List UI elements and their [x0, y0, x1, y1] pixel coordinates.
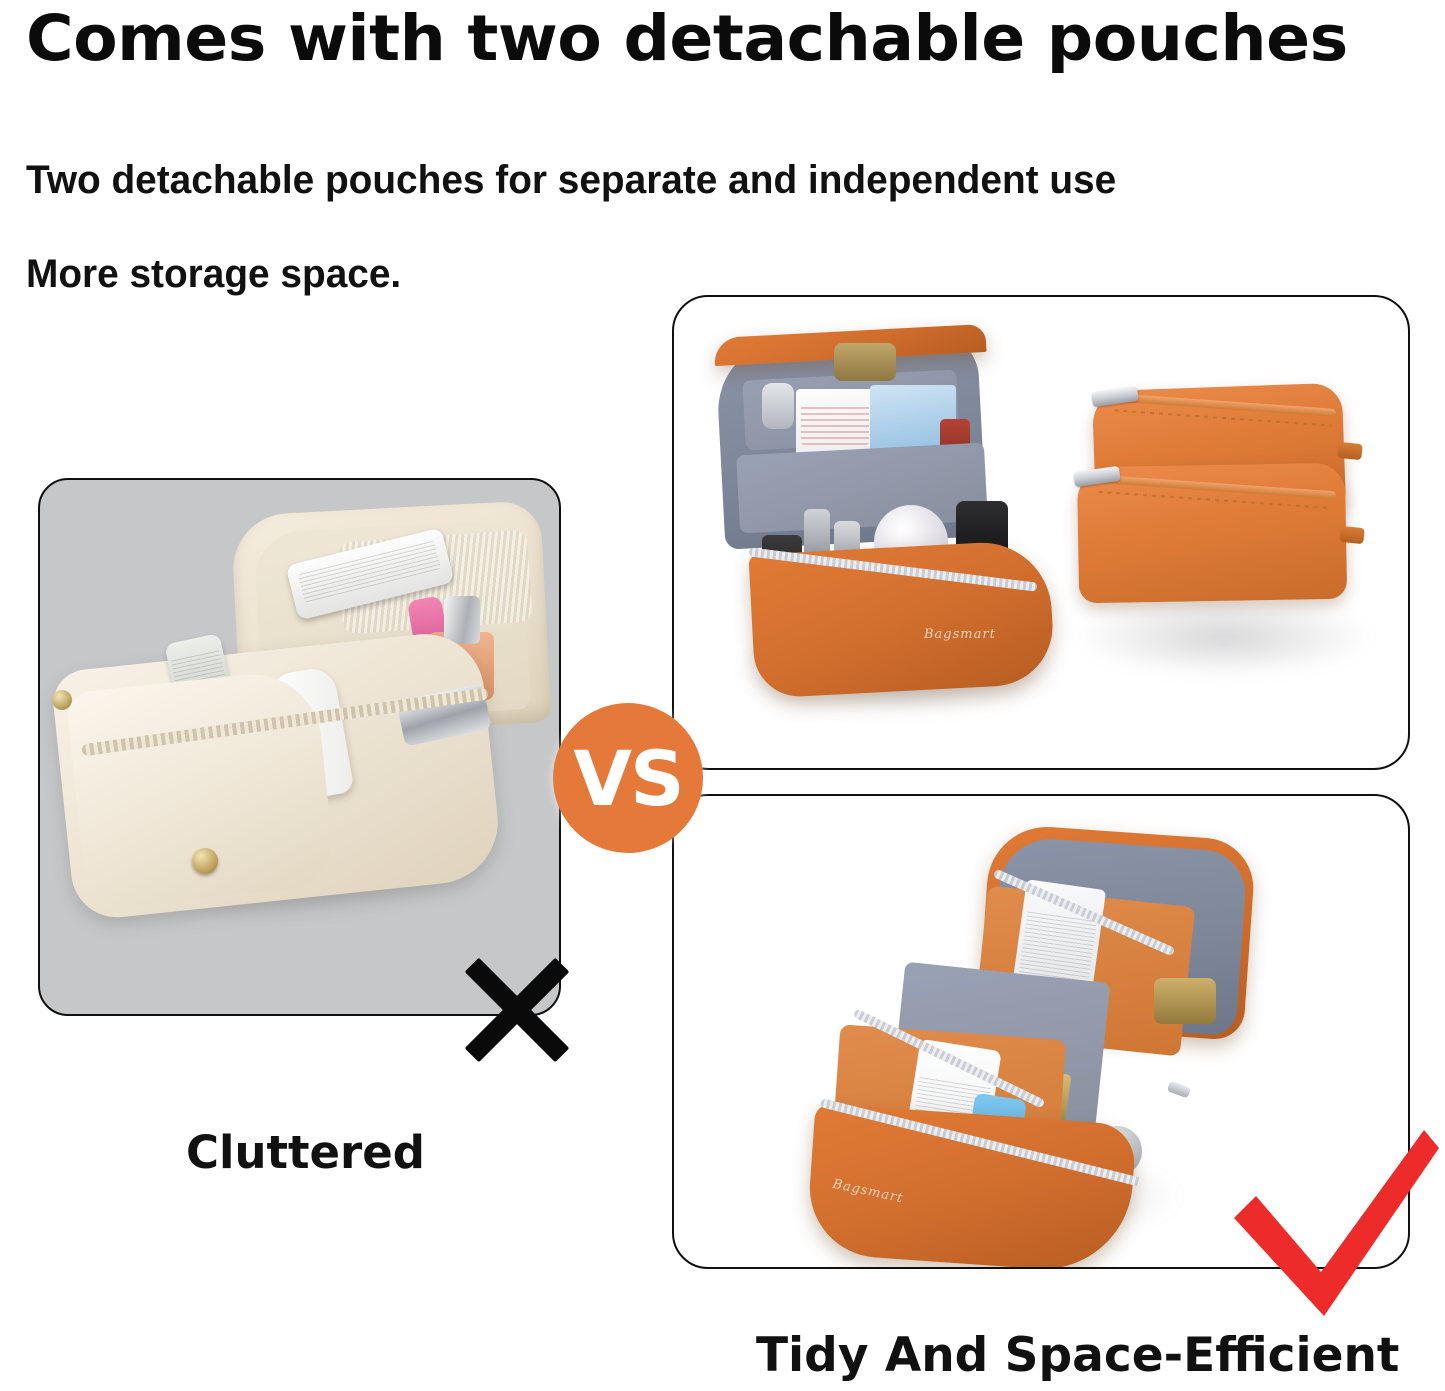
- brand-embossing: Bagsmart: [924, 627, 996, 642]
- caption-cluttered: Cluttered: [186, 1126, 425, 1179]
- pouch-bottom-tab: [1339, 526, 1365, 544]
- side-ring: [52, 690, 72, 710]
- versus-label: VS: [573, 734, 683, 823]
- page-title: Comes with two detachable pouches: [26, 2, 1445, 75]
- infographic-root: Comes with two detachable pouches Two de…: [0, 0, 1445, 1391]
- cream-bag-flap: [65, 668, 336, 911]
- subtitle-line-2: More storage space.: [26, 252, 401, 297]
- x-mark-icon: [452, 945, 582, 1075]
- upper-zipper-pull: [1167, 1081, 1191, 1099]
- subtitle-line-1: Two detachable pouches for separate and …: [26, 158, 1116, 203]
- gold-jar: [1154, 978, 1216, 1024]
- middle-divider-pocket: [736, 443, 988, 534]
- snap-button: [192, 848, 218, 874]
- cream-bag-photo: [40, 480, 559, 1014]
- bag-front-panel: [748, 539, 1055, 699]
- silver-cap: [444, 596, 480, 644]
- cluttered-photo-card: [38, 478, 561, 1016]
- pouch-top-tab: [1337, 442, 1363, 460]
- versus-badge: VS: [553, 703, 703, 853]
- pouch-shadow: [1074, 597, 1374, 677]
- small-bottle: [762, 383, 794, 429]
- check-mark-icon: [1228, 1126, 1442, 1322]
- caption-tidy: Tidy And Space-Efficient: [756, 1328, 1399, 1383]
- pouches-photo-card: Bagsmart: [672, 295, 1410, 770]
- orange-bag-with-pouches-photo: Bagsmart: [674, 297, 1408, 768]
- box-label: [801, 405, 870, 446]
- jar-stack: [834, 343, 896, 381]
